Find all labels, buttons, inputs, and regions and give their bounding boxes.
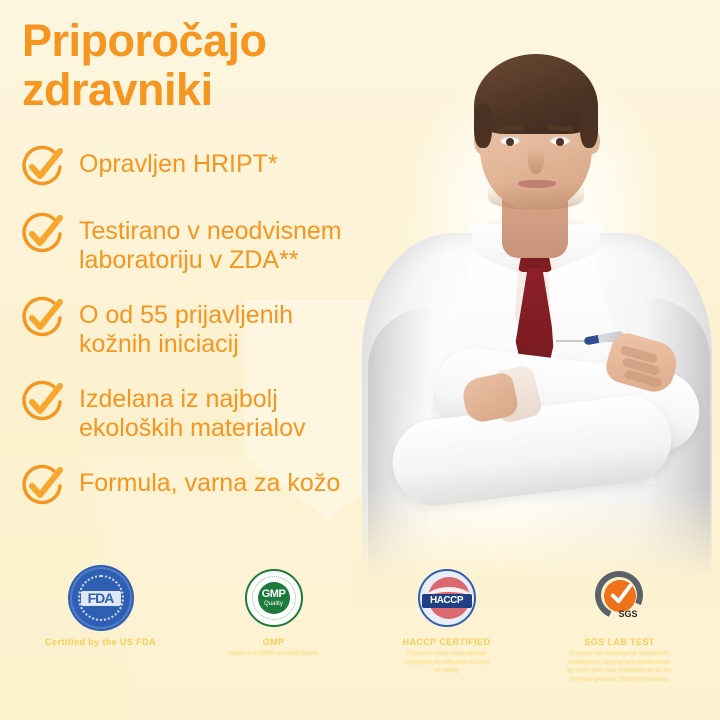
seal-wrapper: HACCP <box>363 566 531 630</box>
certification-row: FDA Certified by the US FDA GMP Quality … <box>0 566 720 684</box>
check-circle-icon <box>18 378 66 426</box>
sgs-seal-label: SGS <box>619 609 638 619</box>
certification-haccp: HACCP HACCP CERTIFIED Products meet inte… <box>363 566 531 676</box>
list-item: Izdelana iz najbolj ekoloških materialov <box>18 380 418 443</box>
mouth <box>518 180 556 188</box>
certification-subtext: Products meet international standards fo… <box>363 650 531 676</box>
certification-subtext: Made in a GMP certified facility <box>190 650 358 659</box>
list-item: Opravljen HRIPT* <box>18 145 418 191</box>
iris-left <box>506 138 514 146</box>
check-circle-icon <box>18 462 66 510</box>
seal-wrapper: SGS <box>536 566 704 630</box>
list-item: O od 55 prijavljenih kožnih iniciacij <box>18 296 418 359</box>
certification-caption: SGS LAB TEST <box>536 637 704 647</box>
gmp-seal-inner: GMP Quality <box>258 582 290 614</box>
check-circle-icon <box>18 210 66 258</box>
certification-fda: FDA Certified by the US FDA <box>17 566 185 650</box>
nose <box>528 148 544 174</box>
promo-banner: Priporočajo zdravniki Opravljen HRIPT* T… <box>0 0 720 720</box>
haccp-seal-icon: HACCP <box>418 569 476 627</box>
check-circle-icon <box>18 294 66 342</box>
benefit-text: Izdelana iz najbolj ekoloških materialov <box>79 380 306 443</box>
benefit-text: Testirano v neodvisnem laboratoriju v ZD… <box>79 212 342 275</box>
certification-caption: Certified by the US FDA <box>17 637 185 647</box>
sgs-seal-icon: SGS <box>589 569 651 627</box>
benefit-text: O od 55 prijavljenih kožnih iniciacij <box>79 296 293 359</box>
fda-seal-icon: FDA <box>72 569 130 627</box>
benefit-text: Opravljen HRIPT* <box>79 145 278 179</box>
certification-sgs: SGS SGS LAB TEST Product has undergone i… <box>536 566 704 684</box>
check-icon <box>609 584 632 607</box>
certification-caption: HACCP CERTIFIED <box>363 637 531 647</box>
page-title: Priporočajo zdravniki <box>22 16 422 114</box>
hair-side-left <box>474 104 492 148</box>
certification-caption: GMP <box>190 637 358 647</box>
certification-subtext: Product has undergone inspection, verifi… <box>536 650 704 684</box>
haccp-seal-label: HACCP <box>420 595 474 606</box>
fda-seal-label: FDA <box>72 569 130 627</box>
gmp-seal-icon: GMP Quality <box>245 569 303 627</box>
gmp-seal-label: GMP <box>262 589 286 600</box>
gmp-seal-sublabel: Quality <box>264 601 283 607</box>
list-item: Testirano v neodvisnem laboratoriju v ZD… <box>18 212 418 275</box>
iris-right <box>556 138 564 146</box>
certification-gmp: GMP Quality GMP Made in a GMP certified … <box>190 566 358 659</box>
check-circle-icon <box>18 143 66 191</box>
hair-side-right <box>580 104 598 148</box>
benefit-text: Formula, varna za kožo <box>79 464 340 498</box>
benefit-list: Opravljen HRIPT* Testirano v neodvisnem … <box>18 145 418 531</box>
list-item: Formula, varna za kožo <box>18 464 418 510</box>
seal-wrapper: FDA <box>17 566 185 630</box>
seal-wrapper: GMP Quality <box>190 566 358 630</box>
